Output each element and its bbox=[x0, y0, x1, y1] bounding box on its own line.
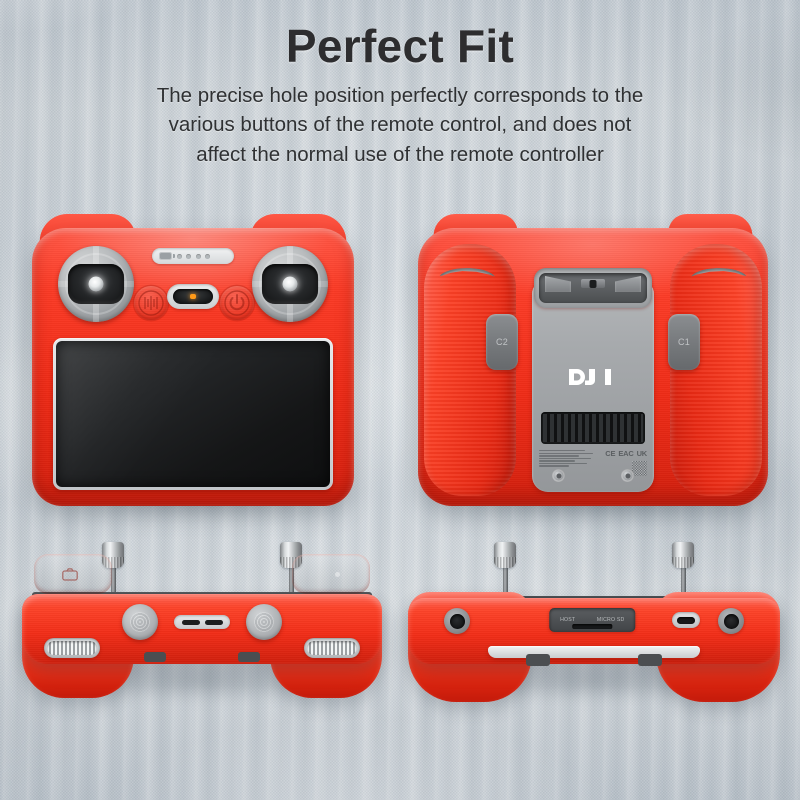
header-block: Perfect Fit The precise hole position pe… bbox=[0, 22, 800, 169]
scroll-wheel-right[interactable] bbox=[304, 638, 360, 658]
speaker-slot-1 bbox=[182, 620, 200, 625]
usb-c-opening bbox=[677, 617, 695, 624]
back-grip-left bbox=[424, 244, 516, 496]
battery-led-4 bbox=[205, 254, 210, 259]
battery-led-3 bbox=[196, 254, 201, 259]
hinge-wing-left bbox=[545, 276, 571, 292]
front-silicone-shell bbox=[32, 228, 354, 506]
battery-led-2 bbox=[186, 254, 191, 259]
label-line bbox=[539, 453, 593, 454]
subtitle-line-3: affect the normal use of the remote cont… bbox=[100, 140, 700, 170]
dial-left[interactable] bbox=[122, 604, 158, 640]
qr-code bbox=[632, 461, 647, 476]
antenna-hinge-recess bbox=[534, 268, 652, 308]
battery-icon bbox=[159, 252, 172, 260]
hinge-wing-right bbox=[615, 276, 641, 292]
battery-indicator-strip bbox=[152, 248, 234, 264]
top-foot-right bbox=[238, 652, 260, 662]
dial-right[interactable] bbox=[246, 604, 282, 640]
top-foot-left bbox=[144, 652, 166, 662]
heat-vent bbox=[541, 412, 645, 444]
hinge-port bbox=[590, 280, 597, 288]
power-button-cutout[interactable] bbox=[167, 284, 219, 309]
control-stick-cap-left-bottom bbox=[494, 542, 516, 568]
button-c1[interactable]: C1 bbox=[668, 314, 700, 370]
flight-pause-glyph bbox=[134, 286, 168, 320]
screw-left bbox=[552, 469, 565, 482]
grip-ridges-right bbox=[670, 244, 762, 496]
microsd-slot bbox=[572, 624, 612, 629]
vent-fins bbox=[543, 414, 643, 442]
top-pad-right bbox=[292, 554, 370, 594]
page-title: Perfect Fit bbox=[0, 22, 800, 71]
port-bay[interactable]: HOST MICRO SD bbox=[549, 608, 635, 632]
product-top-view bbox=[22, 542, 382, 702]
product-bottom-view: HOST MICRO SD bbox=[408, 542, 780, 702]
scroll-wheel-left[interactable] bbox=[44, 638, 100, 658]
jack-hole-left bbox=[450, 614, 465, 629]
label-line bbox=[539, 455, 579, 456]
dji-logo-glyph bbox=[567, 366, 619, 388]
jack-left[interactable] bbox=[444, 608, 470, 634]
control-stick-left-bottom[interactable] bbox=[492, 542, 518, 594]
screen-bezel bbox=[53, 338, 333, 490]
product-front-view bbox=[32, 214, 354, 506]
touchscreen[interactable] bbox=[56, 341, 330, 487]
power-led bbox=[190, 294, 196, 299]
control-stick-shaft-right-bottom bbox=[681, 568, 686, 594]
joystick-left[interactable] bbox=[58, 246, 134, 322]
scroll-wheel-ridges-left bbox=[47, 641, 97, 655]
back-metal-plate: CE EAC UK bbox=[532, 280, 654, 492]
bottom-foot-right bbox=[638, 654, 662, 666]
power-cutout-inner bbox=[173, 289, 213, 304]
jack-right[interactable] bbox=[718, 608, 744, 634]
bottom-grip-bar bbox=[488, 646, 700, 658]
label-line bbox=[539, 463, 587, 464]
microsd-port-label: MICRO SD bbox=[597, 617, 625, 623]
speaker-grille bbox=[174, 615, 230, 629]
product-back-view: CE EAC UK C2 C1 bbox=[418, 214, 768, 506]
eac-mark: EAC bbox=[618, 450, 633, 458]
subtitle-line-2: various buttons of the remote control, a… bbox=[100, 110, 700, 140]
flight-pause-icon[interactable] bbox=[134, 286, 168, 320]
ce-mark: CE bbox=[605, 450, 615, 458]
control-stick-cap-right-bottom bbox=[672, 542, 694, 568]
camera-icon bbox=[62, 568, 78, 581]
joystick-nub-right bbox=[283, 277, 298, 292]
button-c2-label: C2 bbox=[496, 337, 508, 347]
speaker-slot-2 bbox=[205, 620, 223, 625]
subtitle-line-1: The precise hole position perfectly corr… bbox=[100, 81, 700, 111]
back-grip-right bbox=[670, 244, 762, 496]
battery-led-1 bbox=[177, 254, 182, 259]
label-line bbox=[539, 460, 575, 461]
label-line bbox=[539, 458, 591, 459]
hinge-slot bbox=[539, 273, 647, 303]
ukca-mark: UK bbox=[637, 450, 647, 458]
joystick-right[interactable] bbox=[252, 246, 328, 322]
bottom-foot-left bbox=[526, 654, 550, 666]
grip-ridges-left bbox=[424, 244, 516, 496]
control-stick-right-bottom[interactable] bbox=[670, 542, 696, 594]
jack-hole-right bbox=[724, 614, 739, 629]
button-c2[interactable]: C2 bbox=[486, 314, 518, 370]
page-subtitle: The precise hole position perfectly corr… bbox=[100, 81, 700, 170]
scroll-wheel-ridges-right bbox=[307, 641, 357, 655]
usb-c-port[interactable] bbox=[672, 612, 700, 628]
label-line bbox=[539, 450, 585, 451]
button-c1-label: C1 bbox=[678, 337, 690, 347]
joystick-nub-left bbox=[89, 277, 104, 292]
label-line bbox=[539, 465, 569, 466]
power-glyph bbox=[220, 286, 254, 320]
power-icon[interactable] bbox=[220, 286, 254, 320]
control-stick-shaft-left-bottom bbox=[503, 568, 508, 594]
label-text-block bbox=[539, 450, 595, 467]
certification-marks: CE EAC UK bbox=[605, 450, 647, 458]
screw-right bbox=[621, 469, 634, 482]
top-right-indicator bbox=[335, 572, 340, 577]
dji-logo bbox=[567, 366, 619, 388]
back-silicone-shell: CE EAC UK C2 C1 bbox=[418, 228, 768, 506]
host-port-label: HOST bbox=[560, 617, 575, 623]
